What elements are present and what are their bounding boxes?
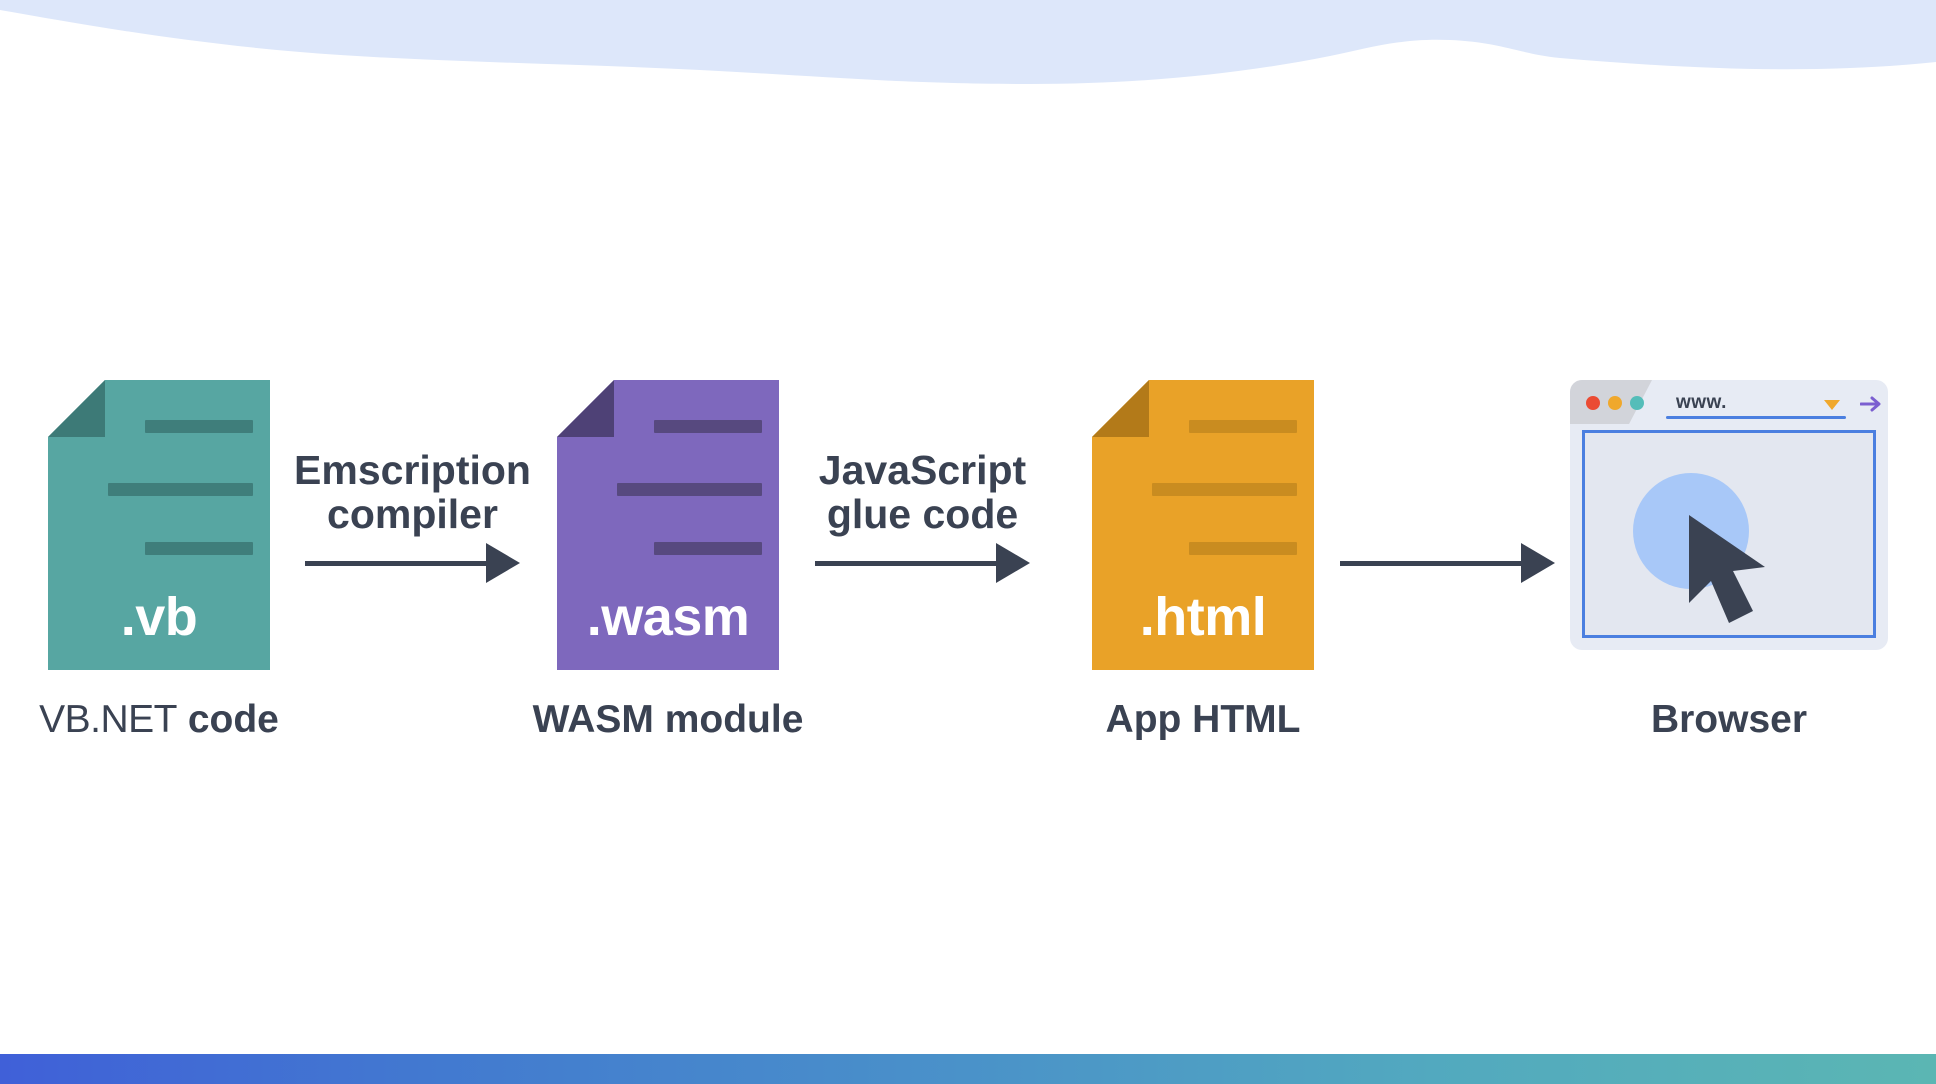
stage-vb-source: .vb VB.NET code [48,380,270,670]
stage-app-html: .html App HTML [1092,380,1314,670]
arrow-head-icon [996,543,1030,583]
file-text-line [145,542,253,555]
arrow-shaft [815,561,996,566]
stage-caption-browser: Browser [1651,698,1807,742]
caption-bold-part: code [188,698,279,741]
traffic-light-minimize-icon[interactable] [1608,396,1622,410]
file-extension-label: .vb [48,590,270,644]
arrow-label-compile: Emscription compiler [294,448,531,537]
caption-light-part: VB.NET [39,698,177,741]
arrow-label-line2: glue code [819,492,1026,536]
file-icon-html: .html [1092,380,1314,670]
traffic-light-maximize-icon[interactable] [1630,396,1644,410]
file-fold-corner [1092,380,1149,437]
arrow-label-glue: JavaScript glue code [819,448,1026,537]
stage-caption-vb: VB.NET code [39,698,279,742]
browser-address-bar[interactable]: www. [1666,392,1846,419]
file-text-line [1189,542,1297,555]
file-icon-wasm: .wasm [557,380,779,670]
file-text-line [145,420,253,433]
arrow-label-line1: JavaScript [819,448,1026,492]
arrow-label-line2: compiler [294,492,531,536]
arrow-head-icon [486,543,520,583]
traffic-light-close-icon[interactable] [1586,396,1600,410]
stage-wasm-module: .wasm WASM module [557,380,779,670]
file-extension-label: .wasm [557,590,779,644]
arrow-label-line1: Emscription [294,448,531,492]
bottom-gradient-bar [0,1054,1936,1084]
file-text-line [654,542,762,555]
file-text-line [1152,483,1297,496]
file-text-line [108,483,253,496]
browser-window-icon: www. [1570,380,1888,650]
chevron-down-icon[interactable] [1824,400,1840,410]
file-text-line [1189,420,1297,433]
address-bar-text: www. [1666,392,1846,414]
arrow-render [1340,543,1555,583]
arrow-shaft [305,561,486,566]
stage-caption-html: App HTML [1106,698,1301,742]
browser-viewport [1582,430,1876,638]
arrow-compile: Emscription compiler [305,543,520,583]
arrow-head-icon [1521,543,1555,583]
file-fold-corner [557,380,614,437]
file-extension-label: .html [1092,590,1314,644]
pipeline-diagram: .vb VB.NET code Emscription compiler .wa… [0,380,1936,780]
arrow-shaft [1340,561,1521,566]
stage-caption-wasm: WASM module [533,698,804,742]
file-fold-corner [48,380,105,437]
stage-browser: www. Browser [1570,380,1888,650]
address-bar-underline [1666,416,1846,419]
mouse-cursor-icon [1683,511,1793,631]
go-arrow-icon[interactable] [1860,394,1882,414]
arrow-glue: JavaScript glue code [815,543,1030,583]
file-text-line [617,483,762,496]
file-text-line [654,420,762,433]
file-icon-vb: .vb [48,380,270,670]
top-wave-decoration [0,0,1936,110]
